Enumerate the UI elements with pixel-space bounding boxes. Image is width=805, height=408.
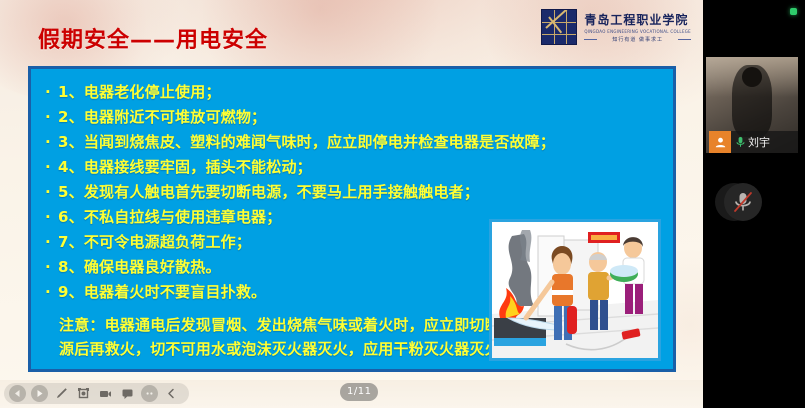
video-camera-button[interactable] [97,385,114,402]
bullet-dot-icon: · [45,280,58,305]
list-item: · 4、电器接线要牢固，插头不能松动； [45,155,659,180]
college-name-en: QINGDAO ENGINEERING VOCATIONAL COLLEGE [584,29,691,35]
slide-content-panel: · 1、电器老化停止使用； · 2、电器附近不可堆放可燃物； · 3、当闻到烧焦… [28,66,676,372]
back-button[interactable] [9,385,26,402]
presentation-toolbar: 1/11 [0,380,703,408]
college-slogan: 知行有道 做事求工 [584,35,691,43]
microphone-icon [735,133,746,152]
toolbar-button-group [4,383,189,404]
meeting-screen-share-window: 假期安全——用电安全 青岛工程职业学院 QINGDAO ENGINEERING … [0,0,805,408]
bullet-dot-icon: · [45,130,58,155]
bullet-dot-icon: · [45,255,58,280]
list-item-label: 1、电器老化停止使用； [58,80,221,105]
list-item: · 5、发现有人触电首先要切断电源，不要马上用手接触触电者； [45,180,659,205]
college-emblem-icon [541,9,577,45]
annotate-pencil-button[interactable] [53,385,70,402]
bullet-dot-icon: · [45,80,58,105]
list-item-label: 7、不可令电源超负荷工作； [58,230,251,255]
list-item-label: 3、当闻到烧焦皮、塑料的难闻气味时，应立即停电并检查电器是否故障； [58,130,555,155]
safety-note: 注意：电器通电后发现冒烟、发出烧焦气味或着火时，应立即切断电源后再救火，切不可用… [59,313,529,361]
bullet-dot-icon: · [45,105,58,130]
participant-name-badge: 刘宇 [709,131,798,153]
school-logo: 青岛工程职业学院 QINGDAO ENGINEERING VOCATIONAL … [541,9,691,45]
list-item-label: 8、确保电器良好散热。 [58,255,221,280]
participant-name-strip: 刘宇 [731,131,798,153]
list-item-label: 6、不私自拉线与使用违章电器； [58,205,281,230]
list-item-label: 5、发现有人触电首先要切断电源，不要马上用手接触触电者； [58,180,479,205]
list-item: · 2、电器附近不可堆放可燃物； [45,105,659,130]
person-icon [709,131,731,153]
bullet-dot-icon: · [45,205,58,230]
slide-title: 假期安全——用电安全 [38,22,268,54]
slide-stage[interactable]: 假期安全——用电安全 青岛工程职业学院 QINGDAO ENGINEERING … [0,0,703,380]
video-person-head [742,67,762,87]
logo-text-block: 青岛工程职业学院 QINGDAO ENGINEERING VOCATIONAL … [584,11,691,43]
page-indicator: 1/11 [340,383,378,401]
collapse-toolbar-button[interactable] [163,385,180,402]
laser-pointer-button[interactable] [75,385,92,402]
college-name-cn: 青岛工程职业学院 [584,11,691,28]
list-item: · 1、电器老化停止使用； [45,80,659,105]
mute-toggle-button[interactable] [724,183,762,221]
participant-name-label: 刘宇 [748,134,770,150]
chat-bubble-button[interactable] [119,385,136,402]
bullet-dot-icon: · [45,230,58,255]
list-item-label: 2、电器附近不可堆放可燃物； [58,105,266,130]
bullet-dot-icon: · [45,155,58,180]
participants-sidebar: 刘宇 [703,0,805,408]
list-item-label: 4、电器接线要牢固，插头不能松动； [58,155,312,180]
fire-extinguisher-illustration [489,219,661,361]
more-options-button[interactable] [141,385,158,402]
list-item-label: 9、电器着火时不要盲目扑救。 [58,280,266,305]
list-item: · 3、当闻到烧焦皮、塑料的难闻气味时，应立即停电并检查电器是否故障； [45,130,659,155]
recording-status-indicator [790,8,797,15]
bullet-dot-icon: · [45,180,58,205]
play-button[interactable] [31,385,48,402]
participant-video-tile[interactable]: 刘宇 [706,57,798,153]
